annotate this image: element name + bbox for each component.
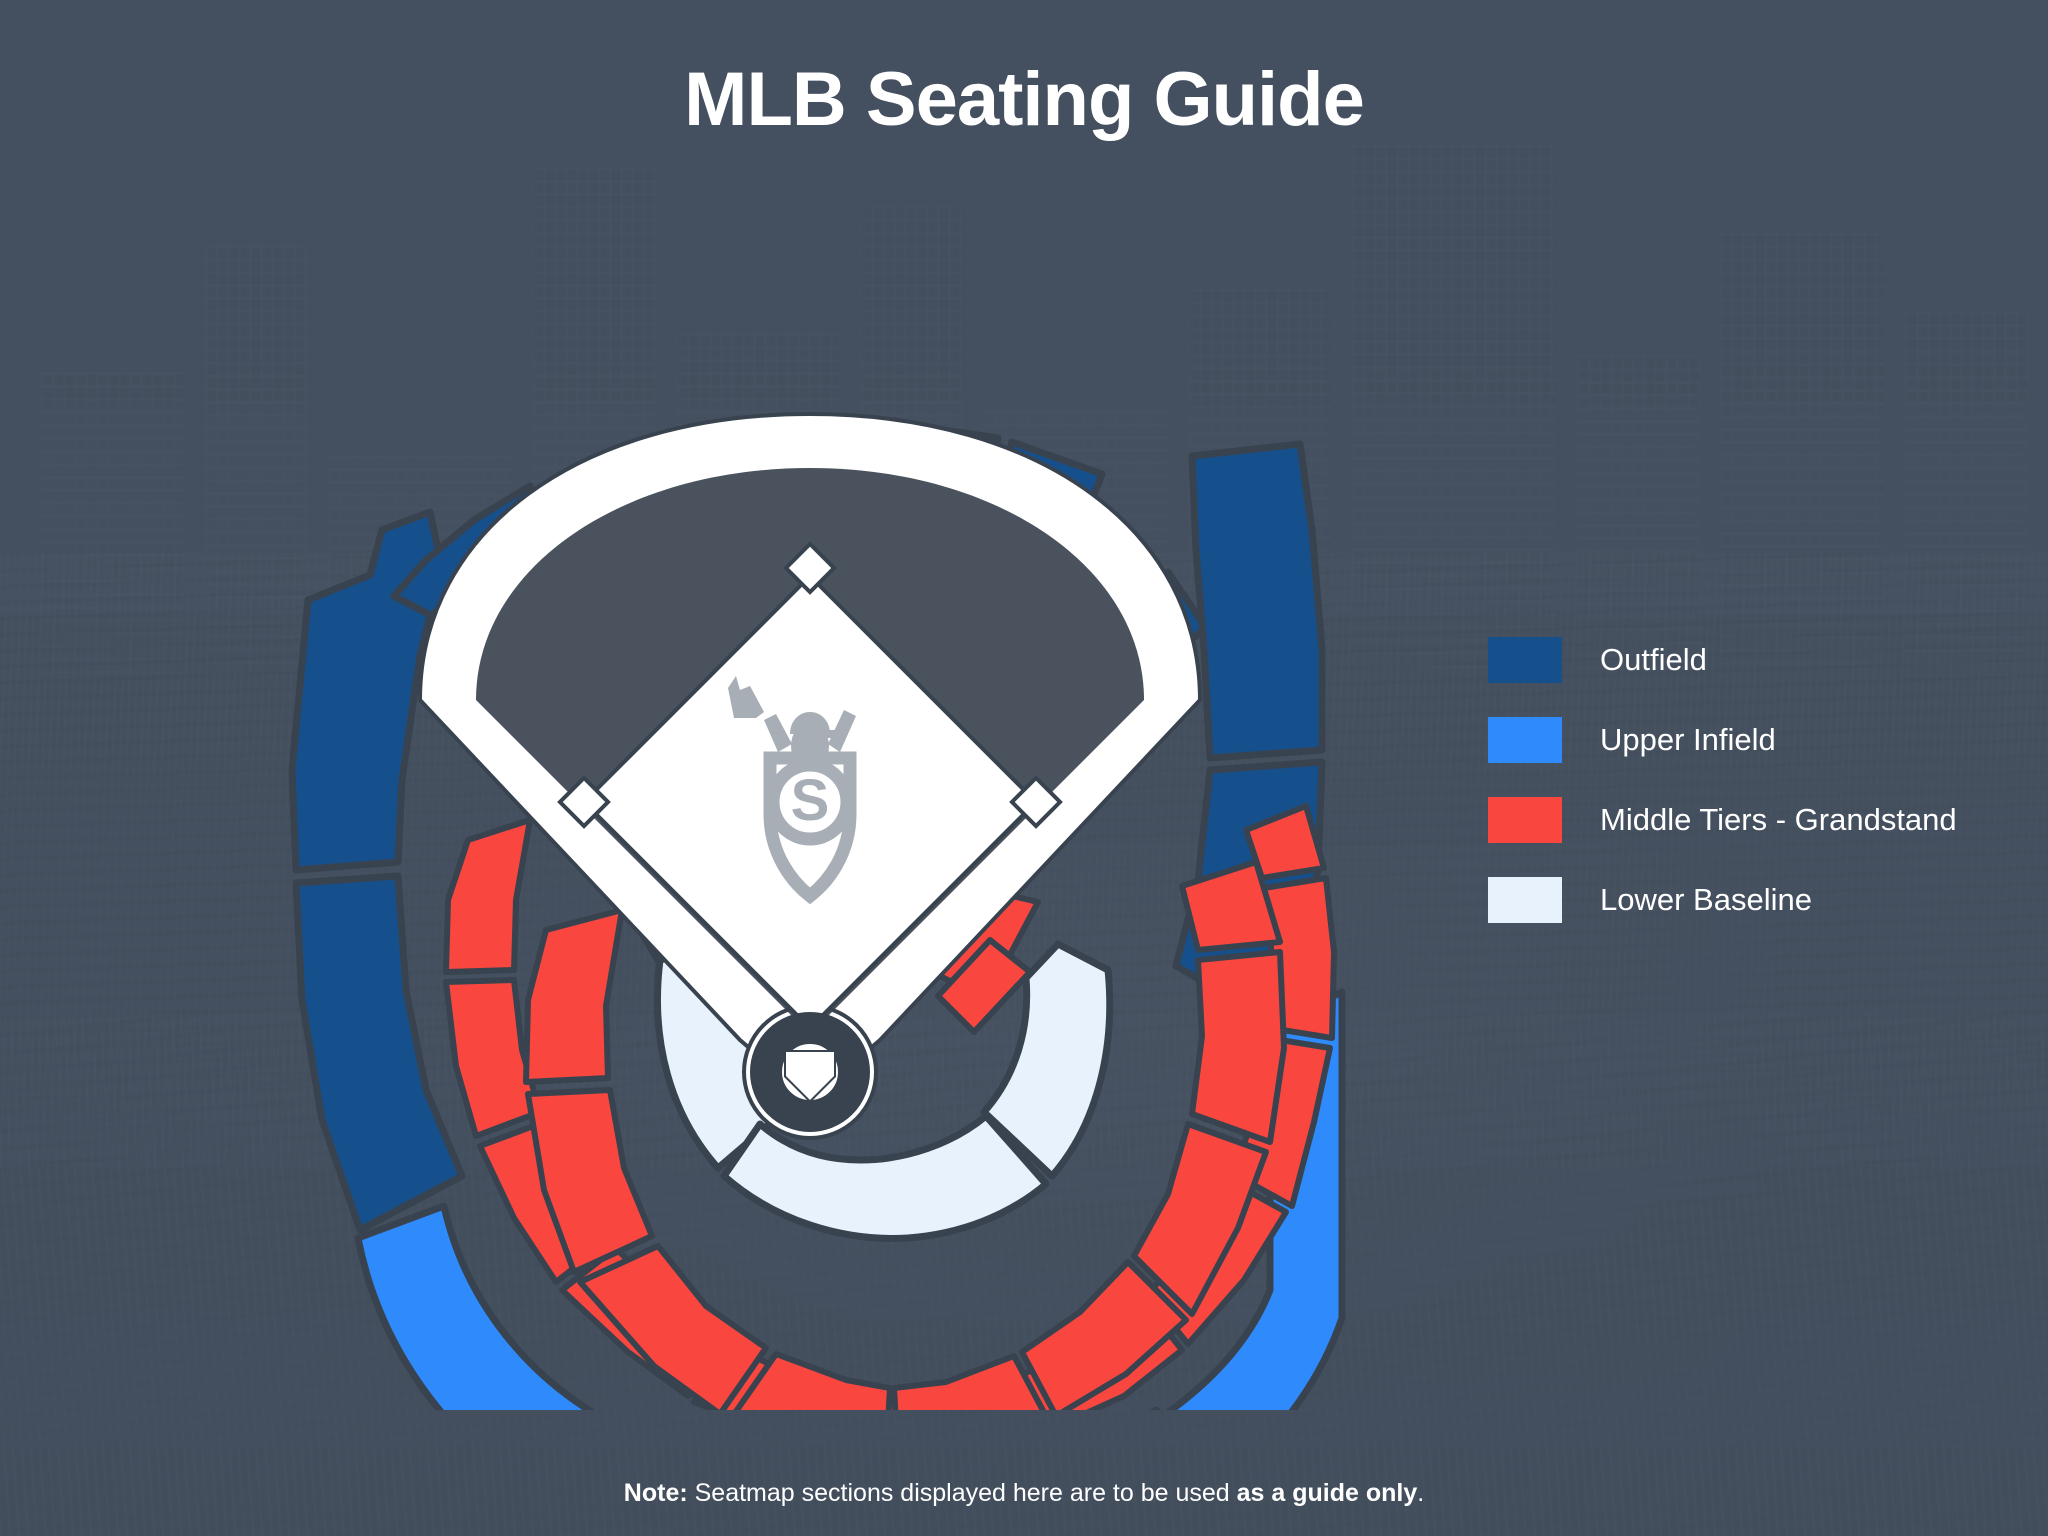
legend-item-lower-baseline[interactable]: Lower Baseline — [1488, 860, 1957, 940]
grandstand-section[interactable] — [526, 910, 622, 1082]
footer-note-emphasis: as a guide only — [1237, 1479, 1418, 1507]
legend: Outfield Upper Infield Middle Tiers - Gr… — [1488, 620, 1957, 940]
logo-letter: S — [791, 768, 830, 833]
outfield-section[interactable] — [296, 876, 462, 1230]
legend-label-lower-baseline: Lower Baseline — [1600, 882, 1812, 918]
legend-label-middle-tiers: Middle Tiers - Grandstand — [1600, 802, 1957, 838]
legend-swatch-middle-tiers — [1488, 797, 1562, 843]
lower-baseline-section[interactable] — [724, 1116, 1046, 1238]
page-title: MLB Seating Guide — [0, 56, 2048, 143]
outfield-section[interactable] — [1192, 444, 1322, 758]
grandstand-section[interactable] — [446, 820, 530, 972]
grandstand-section[interactable] — [894, 1356, 1048, 1410]
legend-item-upper-infield[interactable]: Upper Infield — [1488, 700, 1957, 780]
stadium-seatmap[interactable]: S — [230, 400, 1390, 1410]
legend-item-outfield[interactable]: Outfield — [1488, 620, 1957, 700]
grandstand-section[interactable] — [1192, 952, 1284, 1142]
legend-label-upper-infield: Upper Infield — [1600, 722, 1776, 758]
footer-note-label: Note: — [624, 1479, 688, 1507]
legend-item-middle-tiers[interactable]: Middle Tiers - Grandstand — [1488, 780, 1957, 860]
legend-swatch-upper-infield — [1488, 717, 1562, 763]
seatmap-svg[interactable]: S — [230, 400, 1390, 1410]
footer-note-text: Seatmap sections displayed here are to b… — [688, 1479, 1237, 1507]
footer-note: Note: Seatmap sections displayed here ar… — [0, 1479, 2048, 1508]
legend-swatch-outfield — [1488, 637, 1562, 683]
legend-swatch-lower-baseline — [1488, 877, 1562, 923]
legend-label-outfield: Outfield — [1600, 642, 1707, 678]
footer-note-end: . — [1417, 1479, 1424, 1507]
